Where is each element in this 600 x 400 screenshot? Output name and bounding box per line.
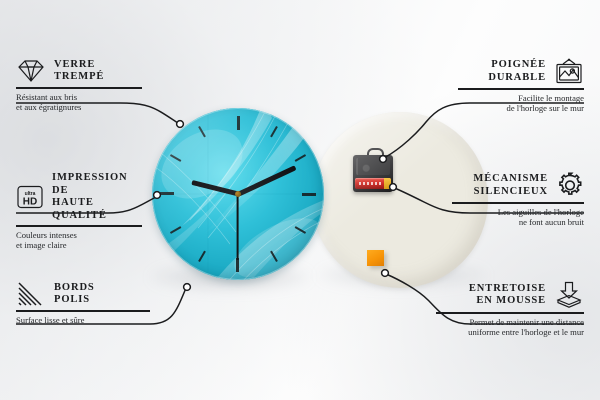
ultra-hd-icon: ultra HD xyxy=(16,184,44,210)
connector-node-bords-polis xyxy=(184,284,191,291)
callout-rule xyxy=(452,202,584,204)
callout-rule xyxy=(16,87,142,89)
connector-node-entretoise xyxy=(382,270,389,277)
callout-entretoise-en-mousse: ENTRETOISE EN MOUSSE Permet de maintenir… xyxy=(436,281,584,338)
connector-node-verre-trempe xyxy=(177,121,184,128)
callout-desc: Les aiguilles de l'horloge ne font aucun… xyxy=(452,207,584,228)
callout-desc: Résistant aux bris et aux égratignures xyxy=(16,92,142,113)
ultra-hd-icon-main-text: HD xyxy=(23,197,37,208)
callout-mecanisme-silencieux: MÉCANISME SILENCIEUX Les aiguilles de l'… xyxy=(452,172,584,228)
callout-rule xyxy=(458,88,584,90)
callout-title: MÉCANISME SILENCIEUX xyxy=(473,173,548,198)
callout-rule xyxy=(436,312,584,314)
foam-spacer-icon xyxy=(554,281,584,309)
callout-title: BORDS POLIS xyxy=(54,282,95,307)
connector-node-mecanisme xyxy=(390,184,397,191)
polished-edge-icon xyxy=(16,281,46,307)
callout-title: IMPRESSION DE HAUTE QUALITÉ xyxy=(52,172,142,222)
callout-desc: Couleurs intenses et image claire xyxy=(16,230,142,251)
callout-desc: Facilite le montage de l'horloge sur le … xyxy=(458,93,584,114)
callout-desc: Surface lisse et sûre xyxy=(16,315,150,326)
gear-icon xyxy=(556,172,584,199)
connector-node-impression xyxy=(154,192,161,199)
callout-rule xyxy=(16,225,142,227)
callout-rule xyxy=(16,310,150,312)
callout-poignee-durable: POIGNÉE DURABLE Facilite le montage de l… xyxy=(458,58,584,114)
connector-node-poignee xyxy=(380,156,387,163)
callout-title: VERRE TREMPÉ xyxy=(54,59,104,84)
callout-title: POIGNÉE DURABLE xyxy=(488,59,546,84)
callout-desc: Permet de maintenir une distance uniform… xyxy=(436,317,584,338)
callout-title: ENTRETOISE EN MOUSSE xyxy=(469,283,546,308)
callout-verre-trempe: VERRE TREMPÉ Résistant aux bris et aux é… xyxy=(16,58,142,113)
product-infographic: VERRE TREMPÉ Résistant aux bris et aux é… xyxy=(0,0,600,400)
hanging-frame-icon xyxy=(554,58,584,85)
diamond-icon xyxy=(16,58,46,84)
callout-impression-haute-qualite: ultra HD IMPRESSION DE HAUTE QUALITÉ Cou… xyxy=(16,172,142,251)
callout-bords-polis: BORDS POLIS Surface lisse et sûre xyxy=(16,281,150,325)
